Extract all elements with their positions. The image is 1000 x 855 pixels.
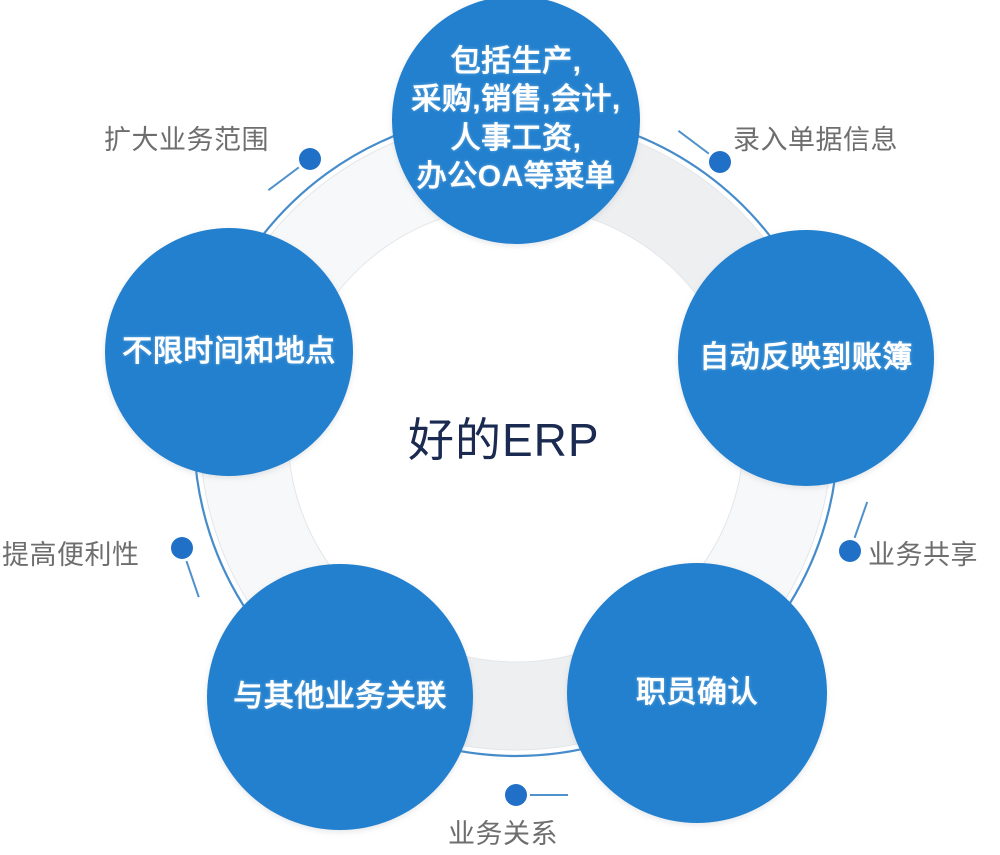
label-top-right-dot[interactable] — [709, 151, 731, 173]
node-bottom-left[interactable] — [207, 564, 473, 830]
node-top[interactable] — [392, 0, 640, 244]
label-top-right: 录入单据信息 — [733, 118, 898, 157]
node-left[interactable] — [105, 228, 353, 476]
label-left: 提高便利性 — [2, 533, 140, 572]
label-right-dot[interactable] — [839, 540, 861, 562]
label-top-left-dot[interactable] — [299, 148, 321, 170]
page-title: 好的ERP — [408, 404, 600, 470]
node-bottom-right[interactable] — [567, 563, 827, 823]
label-bottom: 业务关系 — [448, 812, 558, 851]
label-top-left: 扩大业务范围 — [104, 118, 269, 157]
label-bottom-dot[interactable] — [505, 784, 527, 806]
label-right: 业务共享 — [868, 533, 978, 572]
label-left-dot[interactable] — [171, 537, 193, 559]
node-right[interactable] — [678, 230, 934, 486]
erp-cycle-diagram: 好的ERP 包括生产, 采购,销售,会计, 人事工资, 办公OA等菜单自动反映到… — [0, 0, 1000, 855]
